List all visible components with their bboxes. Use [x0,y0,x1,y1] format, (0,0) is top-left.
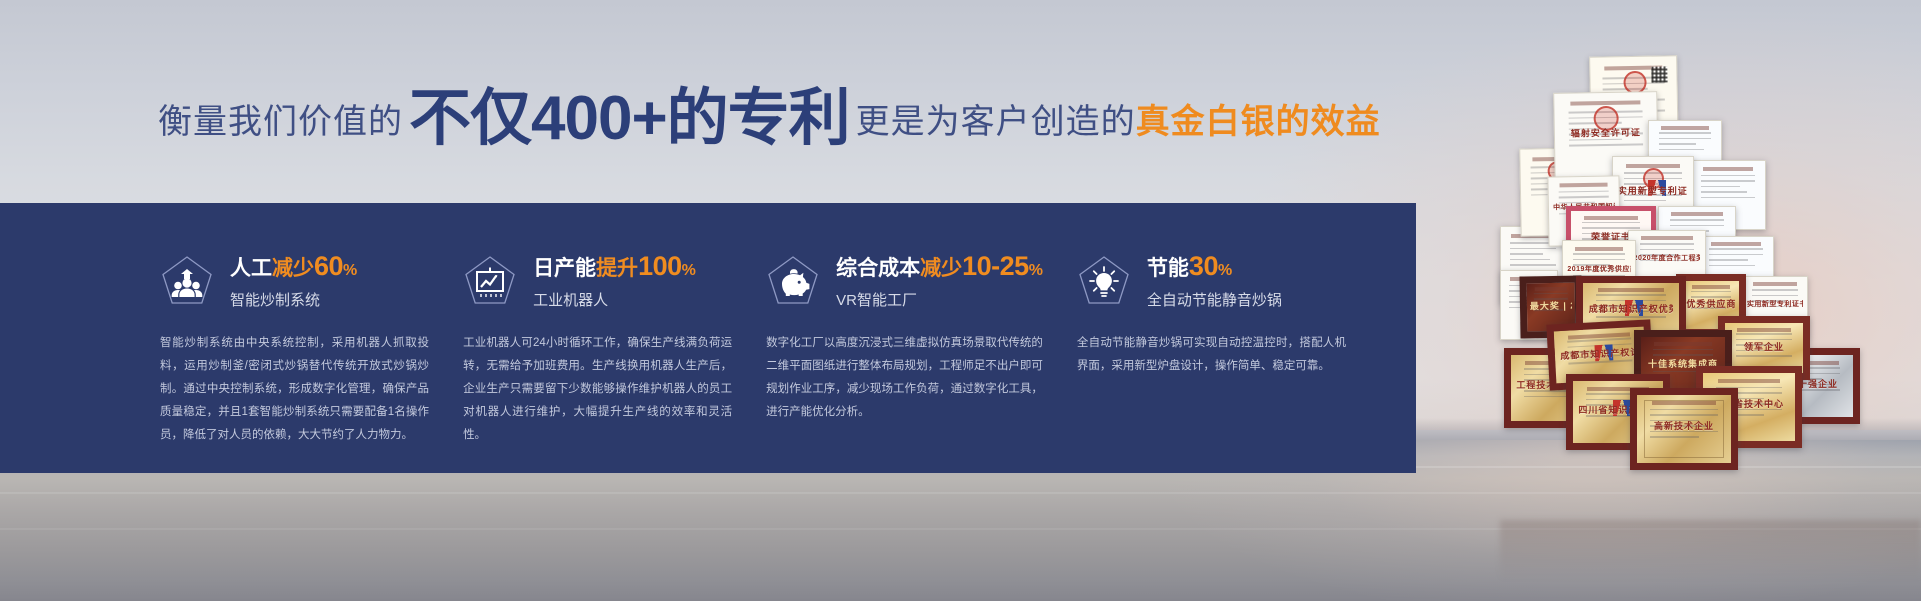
feature-subtitle: 全自动节能静音炒锅 [1147,289,1282,310]
feature-list: 人工减少60% 智能炒制系统 智能炒制系统由中央系统控制，采用机器人抓取投料，运… [160,203,1380,473]
certificate-header-bar [1737,328,1790,332]
headline-middle: 更是为客户创造的 [856,105,1136,139]
certificate-header-bar [1584,216,1638,220]
feature-title: 节能30% [1147,251,1282,282]
feature-body: 智能炒制系统由中央系统控制，采用机器人抓取投料，运用炒制釜/密闭式炒锅替代传统开… [160,332,429,447]
feature-panel: 人工减少60% 智能炒制系统 智能炒制系统由中央系统控制，采用机器人抓取投料，运… [0,203,1416,473]
feature-title-keyword: 提升 [596,257,638,280]
feature-body: 数字化工厂以高度沉浸式三维虚拟仿真场景取代传统的二维平面图纸进行整体布局规划，工… [766,332,1043,424]
certificate-label: 实用新型专利证书 [1747,300,1803,309]
feature-title-keyword: 减少 [272,257,314,280]
feature-header: 节能30% 全自动节能静音炒锅 [1077,251,1346,310]
feature-title: 人工减少60% [230,251,357,282]
feature-titles: 综合成本减少10-25% VR智能工厂 [836,251,1043,310]
feature-title: 日产能提升100% [533,251,696,282]
certificate-header-bar [1703,167,1753,171]
certificate-label: 高新技术企业 [1643,421,1726,433]
feature-title-unit: % [1218,262,1232,279]
certificate-text-lines [1659,132,1711,154]
feature-title-number: 10-25 [962,251,1029,281]
certificate-header-bar [1753,282,1797,286]
feature-header: 人工减少60% 智能炒制系统 [160,251,429,310]
feature-title-unit: % [1029,262,1043,279]
certificate-header-bar [1692,285,1730,289]
certificate-header-bar [1560,183,1608,188]
feature-body: 工业机器人可24小时循环工作，确保生产线满负荷运转，无需给予加班费用。生产线换用… [463,332,732,447]
certificate-label: 领军企业 [1730,342,1799,354]
feature-card-capacity: 日产能提升100% 工业机器人 工业机器人可24小时循环工作，确保生产线满负荷运… [463,203,766,473]
certificate-label: 实用新型专利证书 [1618,186,1688,198]
feature-title-number: 100 [638,251,682,281]
feature-subtitle: 工业机器人 [533,289,696,310]
certificate-header-bar [1661,126,1710,130]
certificate-text-lines [1701,175,1754,203]
feature-card-cost: 综合成本减少10-25% VR智能工厂 数字化工厂以高度沉浸式三维虚拟仿真场景取… [766,203,1077,473]
certificate-label: 2020年度合作工程奖 [1634,254,1701,263]
headline-emphasis: 不仅400+的专利 [409,88,850,150]
certificate-label: 优秀供应商 [1686,299,1735,311]
certificate-header-bar [1652,401,1716,405]
certificate-label: 2019年度优秀供应商 [1567,265,1630,274]
feature-title-unit: % [343,262,357,279]
certificate-label: 辐射安全许可证 [1561,127,1651,140]
people-group-icon [160,254,214,308]
certificate-label: 成都市知识产权优势单位 [1589,304,1674,316]
patent-benefits-banner: 衡量我们价值的不仅400+的专利更是为客户创造的真金白银的效益 [0,0,1921,601]
feature-title-number: 30 [1189,251,1218,281]
piggy-bank-icon [766,254,820,308]
feature-titles: 人工减少60% 智能炒制系统 [230,251,357,310]
feature-title-number: 60 [314,251,343,281]
certificate-header-bar [1718,379,1781,383]
certificate-header-bar [1641,236,1693,240]
feature-card-workforce: 人工减少60% 智能炒制系统 智能炒制系统由中央系统控制，采用机器人抓取投料，运… [160,203,463,473]
certificate-label: 最大奖 | 2 [1530,301,1572,313]
certificate-header-bar [1671,212,1723,216]
certificate-header-bar [1575,247,1624,251]
feature-title-prefix: 节能 [1147,257,1189,280]
feature-title: 综合成本减少10-25% [836,251,1043,282]
chart-board-icon [463,254,517,308]
certificate-item: 高新技术企业 [1630,388,1738,470]
certificate-header-bar [1534,287,1567,292]
feature-header: 日产能提升100% 工业机器人 [463,251,732,310]
headline: 衡量我们价值的不仅400+的专利更是为客户创造的真金白银的效益 [158,82,1381,144]
certificate-qr-code [1652,67,1668,83]
feature-card-energy: 节能30% 全自动节能静音炒锅 全自动节能静音炒锅可实现自动控温控时，搭配人机界… [1077,203,1380,473]
headline-accent: 真金白银的效益 [1136,105,1381,139]
feature-subtitle: 智能炒制系统 [230,289,357,310]
feature-header: 综合成本减少10-25% VR智能工厂 [766,251,1043,310]
feature-body: 全自动节能静音炒锅可实现自动控温控时，搭配人机界面，采用新型炉盘设计，操作简单、… [1077,332,1346,378]
lightbulb-icon [1077,254,1131,308]
certificate-header-bar [1711,242,1761,246]
feature-title-prefix: 综合成本 [836,257,920,280]
certificate-wall: 辐射安全许可证实用新型专利证书中华人民共和国知识产权局荣誉证书2020年度合作工… [1500,48,1921,548]
feature-titles: 日产能提升100% 工业机器人 [533,251,696,310]
feature-titles: 节能30% 全自动节能静音炒锅 [1147,251,1282,310]
certificate-text-lines [1709,248,1762,270]
feature-subtitle: VR智能工厂 [836,289,1043,310]
certificate-header-bar [1654,342,1711,346]
certificate-header-bar [1598,288,1663,292]
feature-title-prefix: 日产能 [533,257,596,280]
headline-lead: 衡量我们价值的 [158,105,403,139]
feature-title-prefix: 人工 [230,257,272,280]
feature-title-unit: % [682,262,696,279]
feature-title-keyword: 减少 [920,257,962,280]
